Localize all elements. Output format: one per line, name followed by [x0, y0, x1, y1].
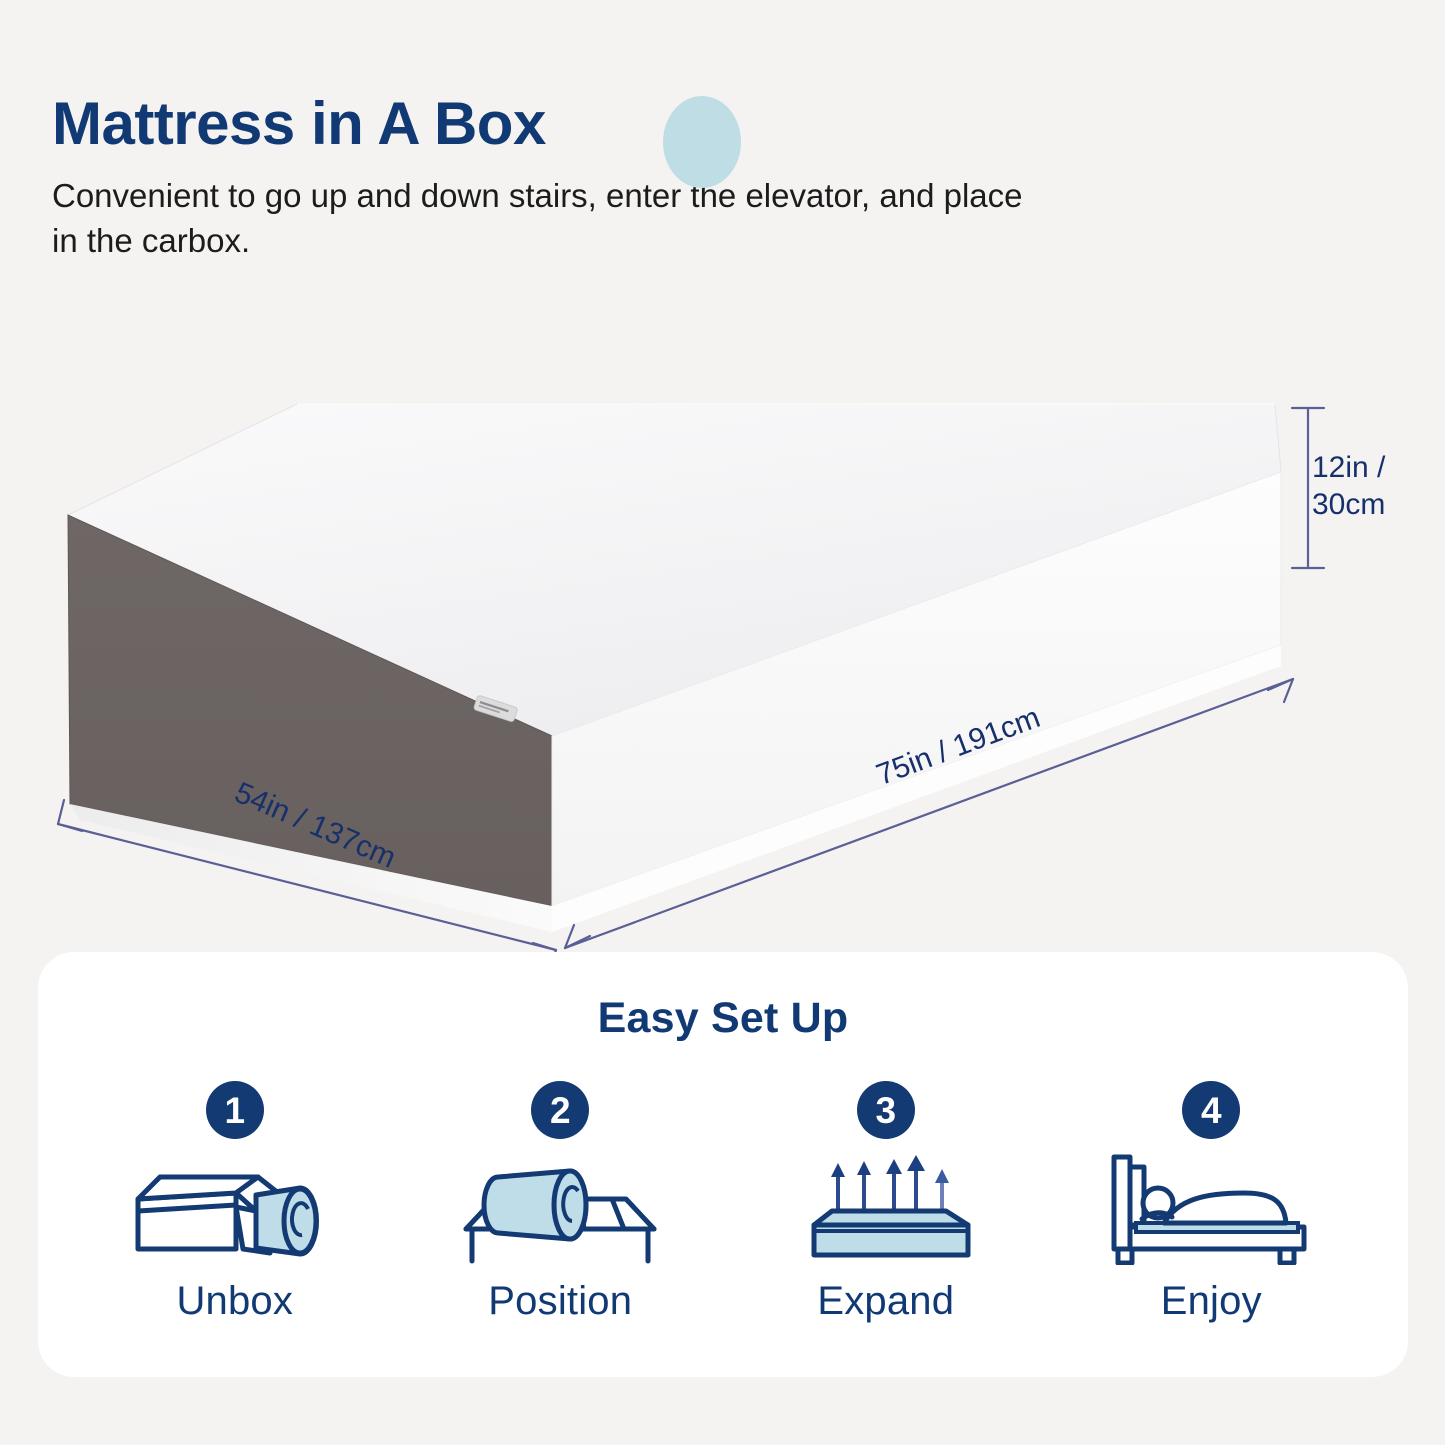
setup-steps-row: 1	[38, 1081, 1408, 1324]
step-label-3: Expand	[817, 1279, 954, 1324]
step-label-2: Position	[488, 1279, 632, 1324]
step-number-badge-4: 4	[1182, 1081, 1240, 1139]
rolled-mattress-shape	[484, 1171, 586, 1239]
easy-setup-title: Easy Set Up	[38, 952, 1408, 1043]
setup-step-enjoy: 4	[1076, 1081, 1346, 1324]
page-subtitle: Convenient to go up and down stairs, ent…	[52, 173, 1052, 264]
step-label-4: Enjoy	[1161, 1279, 1262, 1324]
step-art-1	[130, 1153, 340, 1265]
step-art-4	[1106, 1153, 1316, 1265]
mattress-illustration	[0, 300, 1445, 960]
mattress-slab	[814, 1211, 968, 1255]
step-number-badge-2: 2	[531, 1081, 589, 1139]
header: Mattress in A Box Convenient to go up an…	[52, 92, 1102, 264]
sleeping-person	[1142, 1188, 1286, 1223]
step-art-3	[786, 1153, 986, 1265]
person-sleeping-in-bed-icon	[1106, 1153, 1316, 1265]
easy-setup-card: Easy Set Up 1	[38, 952, 1408, 1377]
setup-step-unbox: 1	[100, 1081, 370, 1324]
setup-step-position: 2	[425, 1081, 695, 1324]
page-title: Mattress in A Box	[52, 92, 546, 157]
step-art-2	[460, 1153, 660, 1265]
rolled-mattress-shape	[256, 1188, 317, 1254]
box-with-rolled-mattress-icon	[130, 1153, 340, 1265]
dimension-label-height: 12in / 30cm	[1312, 450, 1385, 523]
step-number-badge-1: 1	[206, 1081, 264, 1139]
expand-arrows	[831, 1155, 949, 1215]
rolled-mattress-on-bedframe-icon	[460, 1153, 660, 1265]
product-image: 12in / 30cm 75in / 191cm 54in / 137cm	[0, 300, 1445, 960]
mattress-expanding-arrows-icon	[786, 1153, 986, 1265]
step-label-1: Unbox	[176, 1279, 293, 1324]
title-accent-blob	[663, 96, 741, 188]
setup-step-expand: 3	[751, 1081, 1021, 1324]
title-wrap: Mattress in A Box	[52, 92, 546, 157]
step-number-badge-3: 3	[857, 1081, 915, 1139]
